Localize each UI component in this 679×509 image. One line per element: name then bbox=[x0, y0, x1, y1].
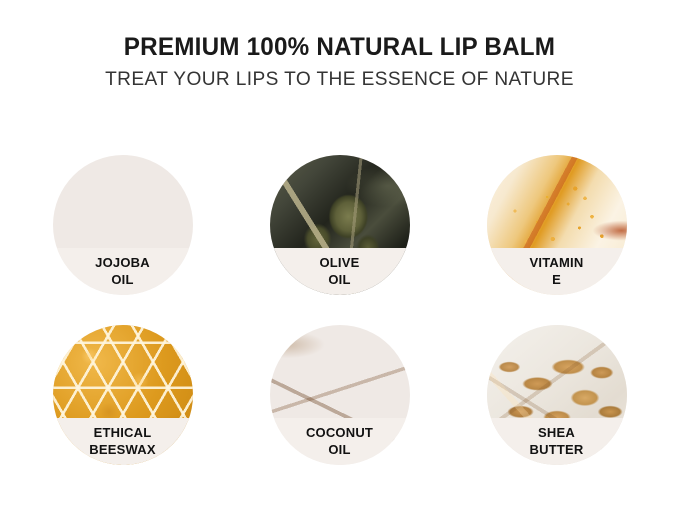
ingredient-label-line1: JOJOBA bbox=[95, 255, 150, 272]
ingredient-label-line1: ETHICAL bbox=[94, 425, 152, 442]
page-subtitle: TREAT YOUR LIPS TO THE ESSENCE OF NATURE bbox=[7, 69, 672, 89]
ingredient-label-ethical-beeswax: ETHICAL BEESWAX bbox=[53, 418, 193, 465]
ingredient-label-shea-butter: SHEA BUTTER bbox=[487, 418, 627, 465]
ingredient-grid: JOJOBA OIL OLIVE OIL VITAMIN E ETHICAL B bbox=[0, 155, 679, 465]
ingredient-row-bottom: ETHICAL BEESWAX COCONUT OIL SHEA BUTTER bbox=[0, 325, 679, 465]
ingredient-label-line2: OIL bbox=[111, 272, 133, 289]
ingredient-label-line2: E bbox=[552, 272, 561, 289]
ingredient-label-line1: OLIVE bbox=[319, 255, 359, 272]
ingredient-label-line1: COCONUT bbox=[306, 425, 373, 442]
ingredient-badge-shea-butter: SHEA BUTTER bbox=[487, 325, 627, 465]
ingredient-label-line2: OIL bbox=[328, 272, 350, 289]
ingredient-row-top: JOJOBA OIL OLIVE OIL VITAMIN E bbox=[0, 155, 679, 295]
ingredient-label-line2: BUTTER bbox=[530, 442, 584, 459]
header: PREMIUM 100% NATURAL LIP BALM TREAT YOUR… bbox=[0, 0, 679, 90]
ingredient-badge-olive-oil: OLIVE OIL bbox=[270, 155, 410, 295]
ingredient-label-olive-oil: OLIVE OIL bbox=[270, 248, 410, 295]
page-title: PREMIUM 100% NATURAL LIP BALM bbox=[10, 34, 669, 60]
ingredient-label-line1: VITAMIN bbox=[530, 255, 584, 272]
ingredient-badge-jojoba-oil: JOJOBA OIL bbox=[53, 155, 193, 295]
ingredient-badge-ethical-beeswax: ETHICAL BEESWAX bbox=[53, 325, 193, 465]
ingredient-label-vitamin-e: VITAMIN E bbox=[487, 248, 627, 295]
ingredient-badge-coconut-oil: COCONUT OIL bbox=[270, 325, 410, 465]
ingredient-label-jojoba-oil: JOJOBA OIL bbox=[53, 248, 193, 295]
ingredient-label-line1: SHEA bbox=[538, 425, 575, 442]
ingredient-label-line2: BEESWAX bbox=[89, 442, 155, 459]
ingredient-label-line2: OIL bbox=[328, 442, 350, 459]
ingredient-badge-vitamin-e: VITAMIN E bbox=[487, 155, 627, 295]
ingredient-label-coconut-oil: COCONUT OIL bbox=[270, 418, 410, 465]
